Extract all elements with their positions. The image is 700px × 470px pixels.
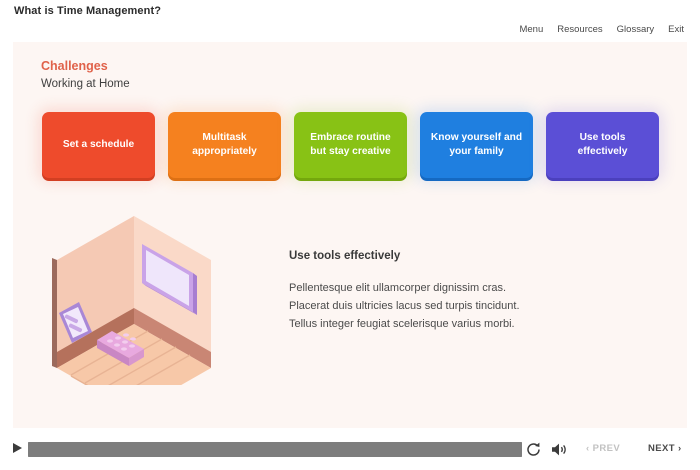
card-label: Multitask appropriately [176, 131, 273, 159]
page-title: What is Time Management? [14, 5, 161, 17]
card-label: Embrace routine but stay creative [302, 131, 399, 159]
detail-body: Pellentesque elit ullamcorper dignissim … [289, 279, 619, 333]
next-button[interactable]: NEXT › [648, 443, 682, 454]
challenge-card-know-yourself[interactable]: Know yourself and your family [420, 112, 533, 178]
nav-item-exit[interactable]: Exit [668, 24, 684, 35]
card-label: Use tools effectively [554, 131, 651, 159]
nav-item-menu[interactable]: Menu [519, 24, 543, 35]
detail-body-line-2: Placerat duis ultricies lacus sed turpis… [289, 297, 619, 315]
detail-panel: Use tools effectively Pellentesque elit … [289, 250, 619, 333]
prev-button[interactable]: ‹ PREV [586, 443, 620, 454]
course-player: What is Time Management? Menu Resources … [0, 0, 700, 470]
challenge-card-set-a-schedule[interactable]: Set a schedule [42, 112, 155, 178]
challenge-card-multitask-appropriately[interactable]: Multitask appropriately [168, 112, 281, 178]
card-label: Set a schedule [63, 138, 134, 152]
challenge-card-list: Set a schedule Multitask appropriately E… [42, 112, 659, 178]
detail-title: Use tools effectively [289, 250, 619, 262]
nav-item-resources[interactable]: Resources [557, 24, 602, 35]
nav-item-glossary[interactable]: Glossary [617, 24, 654, 35]
section-subtitle: Working at Home [41, 78, 130, 90]
section-kicker: Challenges [41, 59, 108, 73]
player-controls: ‹ PREV NEXT › [0, 430, 700, 470]
volume-icon[interactable] [551, 442, 567, 462]
detail-body-line-1: Pellentesque elit ullamcorper dignissim … [289, 279, 619, 297]
challenge-card-embrace-routine[interactable]: Embrace routine but stay creative [294, 112, 407, 178]
detail-body-line-3: Tellus integer feugiat scelerisque variu… [289, 315, 619, 333]
play-icon[interactable] [13, 443, 22, 453]
isometric-room-illustration [30, 200, 270, 385]
challenge-card-use-tools-effectively[interactable]: Use tools effectively [546, 112, 659, 178]
card-label: Know yourself and your family [428, 131, 525, 159]
slide-stage: Challenges Working at Home Set a schedul… [13, 42, 687, 428]
progress-fill [28, 442, 522, 457]
progress-scrubber[interactable] [28, 442, 522, 457]
replay-icon[interactable] [525, 441, 542, 463]
top-navigation: Menu Resources Glossary Exit [519, 24, 684, 35]
